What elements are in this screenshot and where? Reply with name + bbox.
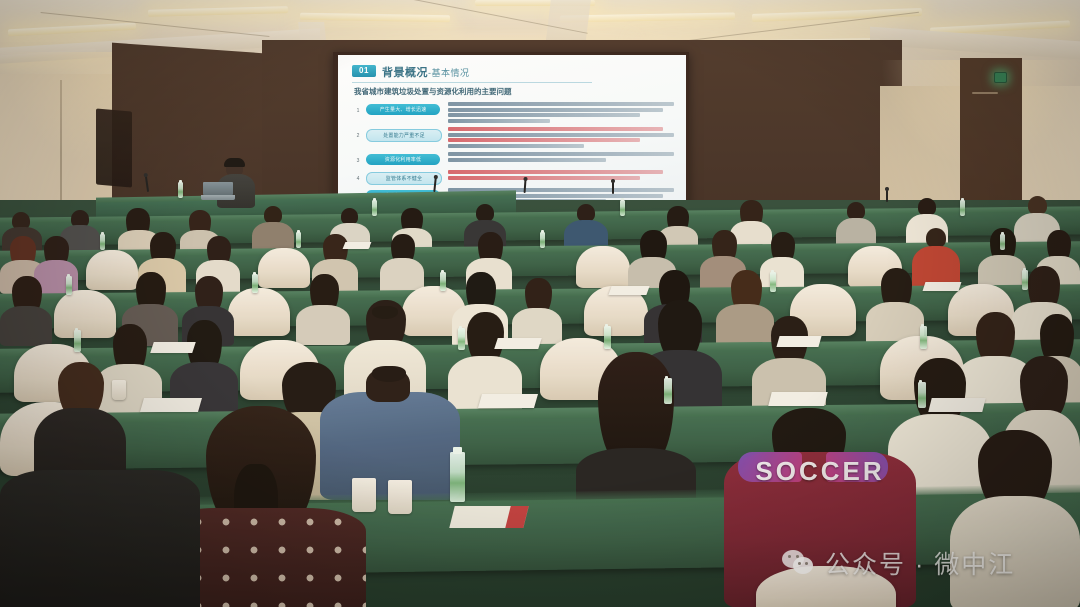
slide-title-main: 背景概况 xyxy=(382,67,428,79)
slide-row: 1 产生量大、增长迅速 xyxy=(352,101,676,122)
water-bottle[interactable] xyxy=(1022,270,1028,290)
paper-sheet[interactable] xyxy=(343,242,372,249)
water-bottle[interactable] xyxy=(920,326,927,349)
water-bottle[interactable] xyxy=(66,276,72,295)
water-bottle[interactable] xyxy=(100,234,105,250)
water-bottle[interactable] xyxy=(1000,234,1005,250)
attendee xyxy=(296,274,350,342)
jacket-text: SOCCER xyxy=(724,456,916,487)
paper-sheet[interactable] xyxy=(608,286,649,295)
slide-title-rule xyxy=(352,82,592,83)
water-bottle[interactable] xyxy=(540,232,545,248)
slide-number-badge: 01 xyxy=(352,65,376,77)
attendee-soccer-jacket: SOCCER xyxy=(724,408,916,607)
wall-speaker xyxy=(96,108,132,187)
slide-row-number: 4 xyxy=(354,176,362,182)
paper-cup[interactable] xyxy=(388,480,412,514)
attendee xyxy=(576,352,696,502)
paper-sheet[interactable] xyxy=(928,398,985,412)
slide-row-body xyxy=(448,102,674,124)
presenter-cap-icon xyxy=(224,158,245,167)
door-handle[interactable] xyxy=(972,92,998,94)
slide-row-pill: 处置能力严重不足 xyxy=(366,129,442,142)
slide-header: 01 背景概况-基本情况 xyxy=(352,64,672,81)
paper-sheet[interactable] xyxy=(923,282,962,291)
slide-row-pill: 产生量大、增长迅速 xyxy=(366,104,440,115)
microphone[interactable] xyxy=(612,182,614,194)
water-bottle[interactable] xyxy=(372,200,377,216)
projection-screen: 01 背景概况-基本情况 我省城市建筑垃圾处置与资源化利用的主要问题 1 产生量… xyxy=(338,55,686,210)
water-bottle[interactable] xyxy=(252,274,258,293)
slide-row-pill-label: 处置能力严重不足 xyxy=(383,132,425,139)
slide-title: 背景概况-基本情况 xyxy=(382,64,470,80)
chair[interactable] xyxy=(576,246,630,288)
slide-title-suffix: -基本情况 xyxy=(428,68,470,78)
water-bottle[interactable] xyxy=(458,328,465,350)
laptop-lid xyxy=(203,182,233,195)
paper-sheet[interactable] xyxy=(768,392,827,406)
slide-subheading: 我省城市建筑垃圾处置与资源化利用的主要问题 xyxy=(354,86,512,97)
attendee xyxy=(866,268,924,344)
water-bottle[interactable] xyxy=(604,326,611,349)
paper-sheet[interactable] xyxy=(776,336,821,347)
slide-row-pill-label: 资源化利用率低 xyxy=(385,156,421,163)
booklet[interactable] xyxy=(449,506,528,528)
water-bottle[interactable] xyxy=(770,272,776,292)
paper-sheet[interactable] xyxy=(494,338,542,349)
water-bottle[interactable] xyxy=(664,378,672,404)
water-bottle[interactable] xyxy=(178,182,183,198)
slide-row-body xyxy=(448,127,674,149)
attendee xyxy=(0,276,52,340)
water-bottle[interactable] xyxy=(918,382,926,408)
paper-sheet[interactable] xyxy=(150,342,196,353)
water-bottle[interactable] xyxy=(620,200,625,216)
slide-row-pill-label: 产生量大、增长迅速 xyxy=(380,106,427,113)
slide-row-pill-label: 监管体系不健全 xyxy=(386,175,422,182)
water-bottle[interactable] xyxy=(440,272,446,291)
microphone[interactable] xyxy=(886,190,888,202)
laptop-base xyxy=(201,195,235,200)
slide-row-number: 3 xyxy=(354,158,362,164)
paper-cup[interactable] xyxy=(112,380,126,400)
slide-row-number: 2 xyxy=(354,133,362,139)
slide-row-pill: 监管体系不健全 xyxy=(366,172,442,185)
paper-sheet[interactable] xyxy=(478,394,538,408)
conference-room-photo: 01 背景概况-基本情况 我省城市建筑垃圾处置与资源化利用的主要问题 1 产生量… xyxy=(0,0,1080,607)
exit-sign xyxy=(994,72,1007,83)
water-bottle[interactable] xyxy=(74,330,81,352)
water-bottle[interactable] xyxy=(450,452,465,502)
water-bottle[interactable] xyxy=(296,232,301,248)
slide-row-body xyxy=(448,152,674,163)
attendee xyxy=(0,470,200,607)
attendee xyxy=(380,234,424,292)
water-bottle[interactable] xyxy=(960,200,965,216)
slide-row-body xyxy=(448,170,674,181)
slide-row-number: 1 xyxy=(354,108,362,114)
slide-row: 2 处置能力严重不足 xyxy=(352,126,676,147)
presenter-laptop[interactable] xyxy=(203,182,233,200)
attendee xyxy=(950,430,1080,607)
slide-row-pill: 资源化利用率低 xyxy=(366,154,440,165)
